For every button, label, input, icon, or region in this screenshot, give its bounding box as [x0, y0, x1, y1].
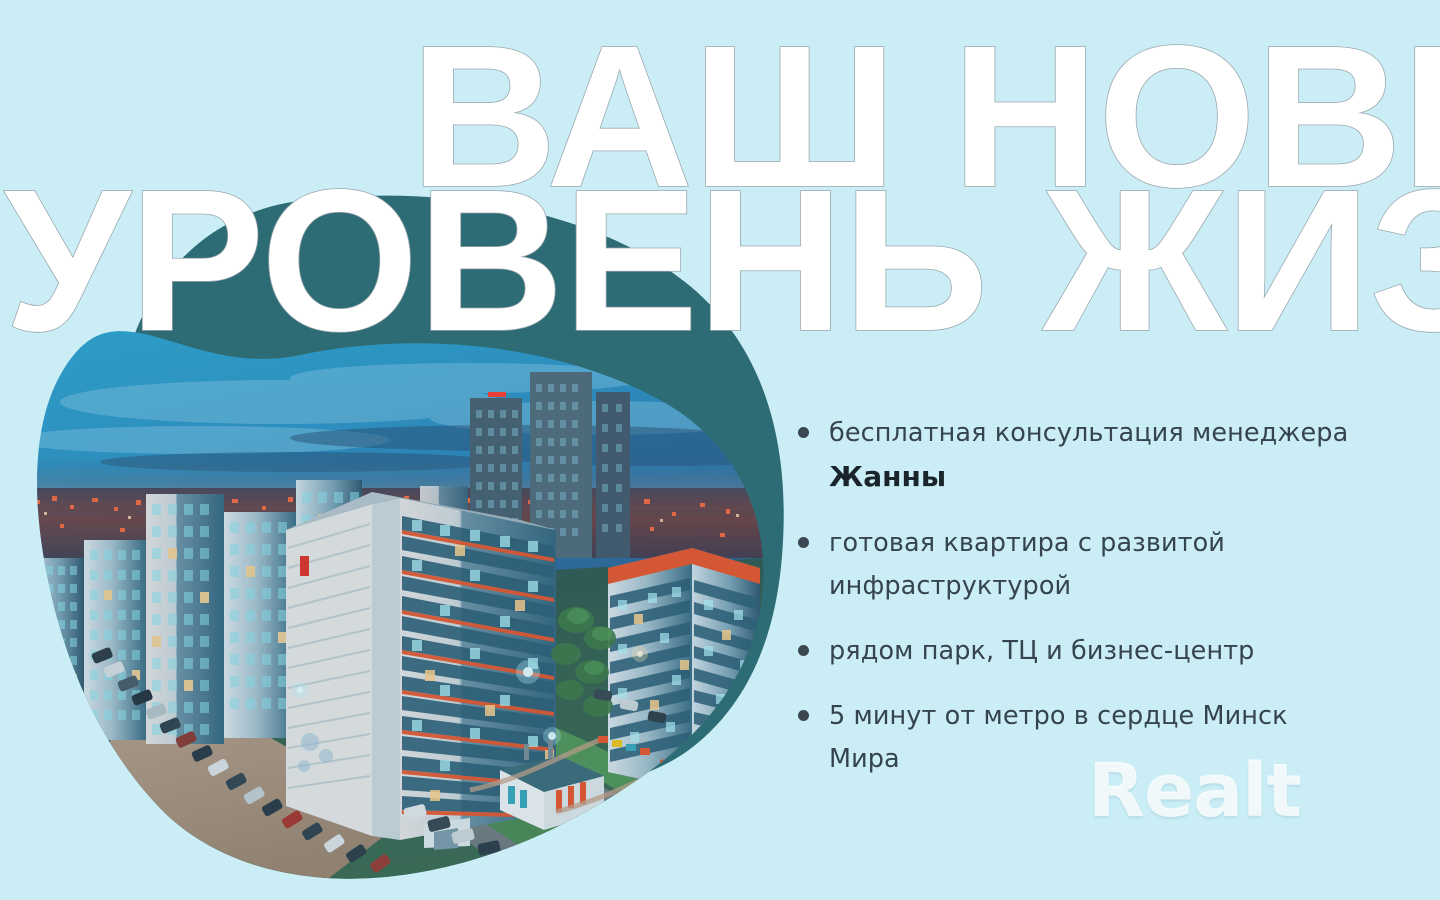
bullet-text: рядом парк, ТЦ и бизнес-центр	[829, 630, 1358, 673]
bullet-dot-icon	[798, 537, 809, 548]
bullet-lead: рядом парк, ТЦ и бизнес-центр	[829, 636, 1254, 666]
bullet-dot-icon	[798, 427, 809, 438]
bullet-lead: бесплатная консультация менеджера	[829, 418, 1348, 448]
realt-watermark: Realt	[1088, 748, 1301, 834]
bullet-dot-icon	[798, 645, 809, 656]
list-item: бесплатная консультация менеджера Жанны	[798, 412, 1358, 500]
bullet-emphasis: Жанны	[829, 460, 946, 493]
poster-canvas: ВАШ НОВЫЙ УРОВЕНЬ ЖИЗНИ бесплатная консу…	[0, 0, 1440, 900]
bullet-dot-icon	[798, 710, 809, 721]
list-item: рядом парк, ТЦ и бизнес-центр	[798, 630, 1358, 673]
bullet-lead: готовая квартира с развитой инфраструкту…	[829, 528, 1225, 601]
benefits-list: бесплатная консультация менеджера Жанны …	[798, 412, 1358, 803]
list-item: готовая квартира с развитой инфраструкту…	[798, 522, 1358, 608]
bullet-text: бесплатная консультация менеджера Жанны	[829, 412, 1358, 500]
bullet-text: готовая квартира с развитой инфраструкту…	[829, 522, 1358, 608]
